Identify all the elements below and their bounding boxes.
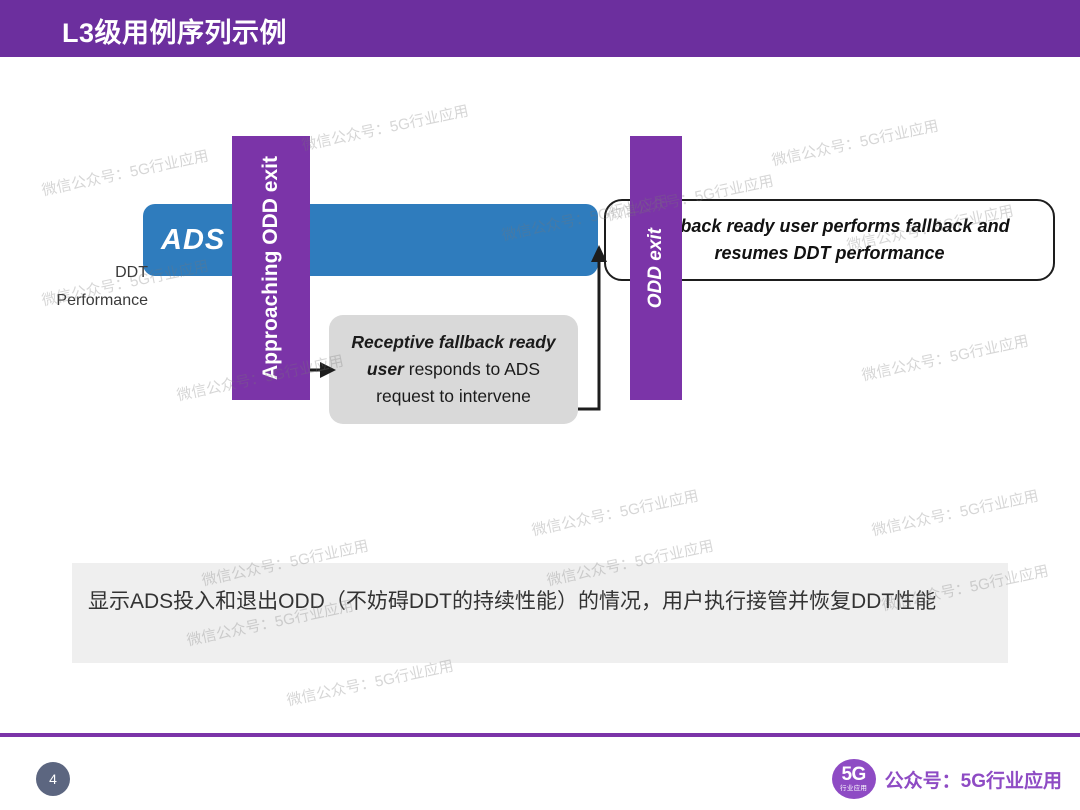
brand-logo-sub-text: 行业应用 bbox=[840, 786, 867, 793]
brand-logo-icon: 5G 行业应用 bbox=[832, 759, 876, 799]
odd-exit-bar: ODD exit bbox=[630, 136, 682, 400]
diagram-canvas: DDT Performance ADS Receptive fallback r… bbox=[0, 57, 1080, 557]
header-bar: L3级用例序列示例 bbox=[0, 0, 1080, 57]
page-title: L3级用例序列示例 bbox=[62, 11, 287, 50]
brand-account-text: 公众号：5G行业应用 bbox=[885, 766, 1062, 793]
page-number-badge: 4 bbox=[36, 762, 70, 796]
caption-box: 显示ADS投入和退出ODD（不妨碍DDT的持续性能）的情况，用户执行接管并恢复D… bbox=[72, 563, 1008, 663]
connector-arrows bbox=[0, 57, 1080, 557]
approaching-odd-exit-bar: Approaching ODD exit bbox=[232, 136, 310, 400]
brand-logo-main-text: 5G bbox=[841, 765, 865, 784]
odd-exit-label: ODD exit bbox=[644, 228, 668, 308]
footer-divider bbox=[0, 733, 1080, 737]
approaching-odd-exit-label: Approaching ODD exit bbox=[258, 156, 284, 380]
brand-footer: 5G 行业应用 公众号：5G行业应用 bbox=[832, 757, 1062, 801]
caption-text: 显示ADS投入和退出ODD（不妨碍DDT的持续性能）的情况，用户执行接管并恢复D… bbox=[88, 580, 988, 624]
